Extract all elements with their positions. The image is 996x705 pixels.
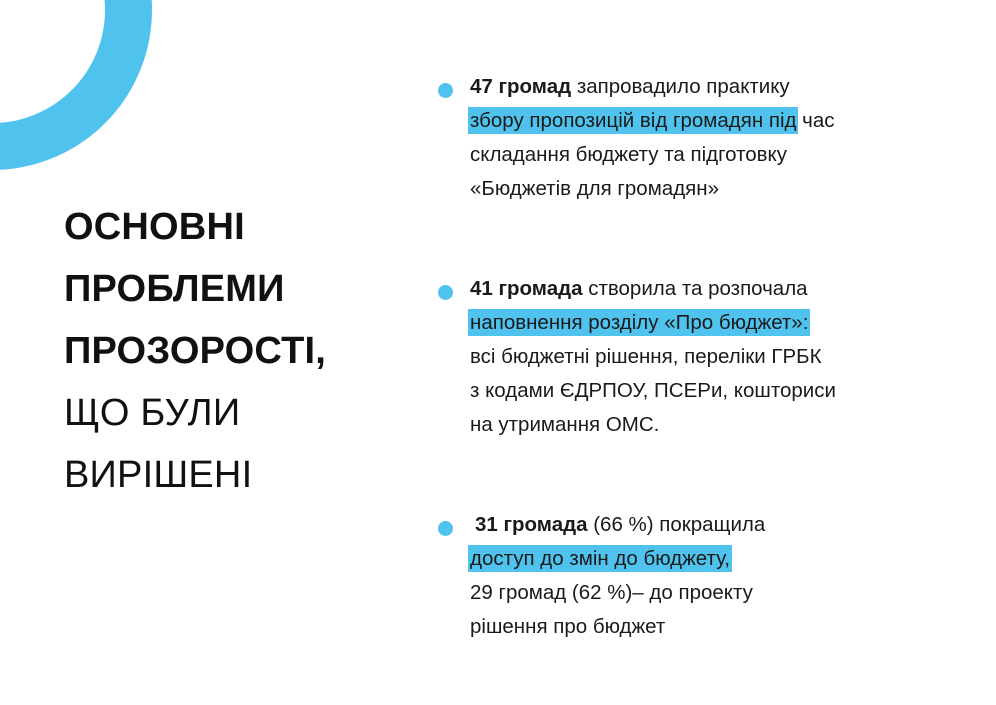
bullet-line: 29 громад (62 %)– до проекту bbox=[470, 576, 932, 610]
bullet-line: 41 громада створила та розпочала bbox=[470, 272, 932, 306]
bullet-list: 47 громад запровадило практику збору про… bbox=[432, 70, 932, 644]
bullet-lead-in: 47 громад bbox=[470, 75, 571, 98]
bullet-line: наповнення розділу «Про бюджет»: bbox=[470, 306, 932, 340]
bullet-text: на утримання ОМС. bbox=[470, 413, 659, 436]
bullet-item: 47 громад запровадило практику збору про… bbox=[432, 70, 932, 206]
bullet-text: всі бюджетні рішення, переліки ГРБК bbox=[470, 345, 822, 368]
bullet-text: складання бюджету та підготовку bbox=[470, 143, 787, 166]
bullet-line: з кодами ЄДРПОУ, ПСЕРи, кошториси bbox=[470, 374, 932, 408]
bullet-text: з кодами ЄДРПОУ, ПСЕРи, кошториси bbox=[470, 379, 836, 402]
page-title-line: ВИРІШЕНІ bbox=[64, 444, 414, 506]
bullet-item: 41 громада створила та розпочала наповне… bbox=[432, 272, 932, 442]
bullet-text: створила та розпочала bbox=[583, 277, 808, 300]
bullet-text: (66 %) покращила bbox=[588, 513, 766, 536]
bullet-text: 29 громад (62 %)– до проекту bbox=[470, 581, 753, 604]
bullet-text: запровадило практику bbox=[571, 75, 790, 98]
bullet-item: 31 громада (66 %) покращила доступ до зм… bbox=[432, 508, 932, 644]
arc-ring-shape bbox=[0, 0, 152, 170]
bullet-lead-in: 31 громада bbox=[475, 513, 588, 536]
bullet-text: час bbox=[796, 109, 834, 132]
bullet-line: «Бюджетів для громадян» bbox=[470, 172, 932, 206]
bullet-text: рішення про бюджет bbox=[470, 615, 665, 638]
bullet-text: «Бюджетів для громадян» bbox=[470, 177, 719, 200]
bullet-line: 31 громада (66 %) покращила bbox=[470, 508, 932, 542]
bullet-dot-icon bbox=[438, 83, 453, 98]
bullet-line: збору пропозицій від громадян під час bbox=[470, 104, 932, 138]
bullet-dot-icon bbox=[438, 285, 453, 300]
bullet-highlight: доступ до змін до бюджету, bbox=[470, 547, 730, 570]
page-title-line: ПРОЗОРОСТІ, bbox=[64, 320, 414, 382]
bullet-highlight: наповнення розділу «Про бюджет»: bbox=[470, 311, 808, 334]
bullet-highlight: збору пропозицій від громадян під bbox=[470, 109, 796, 132]
bullet-line: рішення про бюджет bbox=[470, 610, 932, 644]
bullet-line: складання бюджету та підготовку bbox=[470, 138, 932, 172]
decorative-arc bbox=[0, 0, 152, 170]
bullet-dot-icon bbox=[438, 521, 453, 536]
page-title-line: ПРОБЛЕМИ bbox=[64, 258, 414, 320]
bullet-lead-in: 41 громада bbox=[470, 277, 583, 300]
bullet-line: 47 громад запровадило практику bbox=[470, 70, 932, 104]
bullet-line: на утримання ОМС. bbox=[470, 408, 932, 442]
page-title-line: ОСНОВНІ bbox=[64, 196, 414, 258]
bullet-line: всі бюджетні рішення, переліки ГРБК bbox=[470, 340, 932, 374]
page-title: ОСНОВНІ ПРОБЛЕМИ ПРОЗОРОСТІ, ЩО БУЛИ ВИР… bbox=[64, 196, 414, 506]
bullet-line: доступ до змін до бюджету, bbox=[470, 542, 932, 576]
page-title-line: ЩО БУЛИ bbox=[64, 382, 414, 444]
